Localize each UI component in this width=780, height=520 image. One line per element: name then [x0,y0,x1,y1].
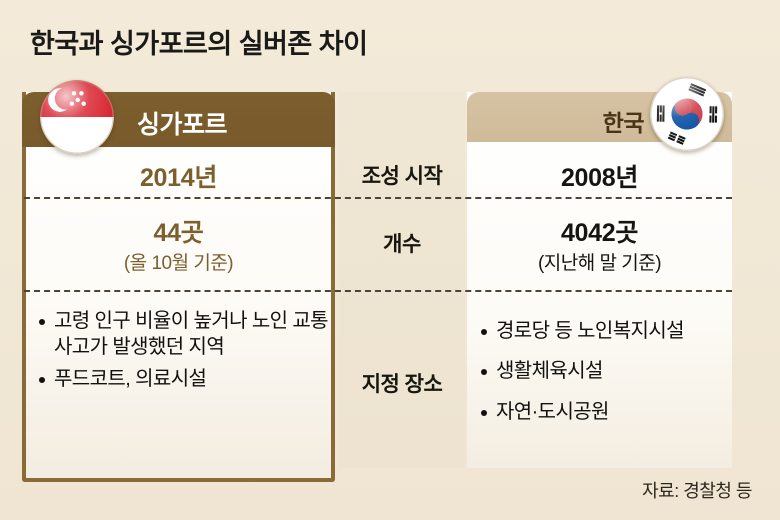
singapore-flag-icon [40,80,114,154]
middle-label-column [339,92,465,468]
source-note: 자료: 경찰청 등 [642,477,752,503]
singapore-count: 44곳 [26,213,331,249]
korea-count: 4042곳 [467,213,732,249]
list-item: 경로당 등 노인복지시설 [480,318,730,344]
row-label-places: 지정 장소 [339,368,465,398]
page-title: 한국과 싱가포르의 실버존 차이 [30,22,367,61]
korea-header-label: 한국 [603,104,644,138]
korea-places-list: 경로당 등 노인복지시설 생활체육시설 자연·도시공원 [480,318,730,439]
list-item: 푸드코트, 의료시설 [38,366,328,392]
list-item: 자연·도시공원 [480,399,730,425]
row-divider-1 [24,197,732,199]
infographic-root: 한국과 싱가포르의 실버존 차이 싱가포르 한국 [0,0,780,520]
singapore-count-note: (올 10월 기준) [26,248,331,275]
singapore-start-year: 2014년 [26,158,331,194]
korea-start-year: 2008년 [467,158,732,194]
singapore-header-label: 싱가포르 [137,105,227,141]
list-item: 고령 인구 비율이 높거나 노인 교통사고가 발생했던 지역 [38,308,328,361]
korea-count-note: (지난해 말 기준) [467,248,732,275]
list-item: 생활체육시설 [480,358,730,384]
singapore-places-list: 고령 인구 비율이 높거나 노인 교통사고가 발생했던 지역 푸드코트, 의료시… [38,308,328,397]
row-label-start: 조성 시작 [339,160,465,190]
row-divider-2 [24,290,732,292]
south-korea-flag-icon [650,77,724,151]
row-label-count: 개수 [339,228,465,258]
